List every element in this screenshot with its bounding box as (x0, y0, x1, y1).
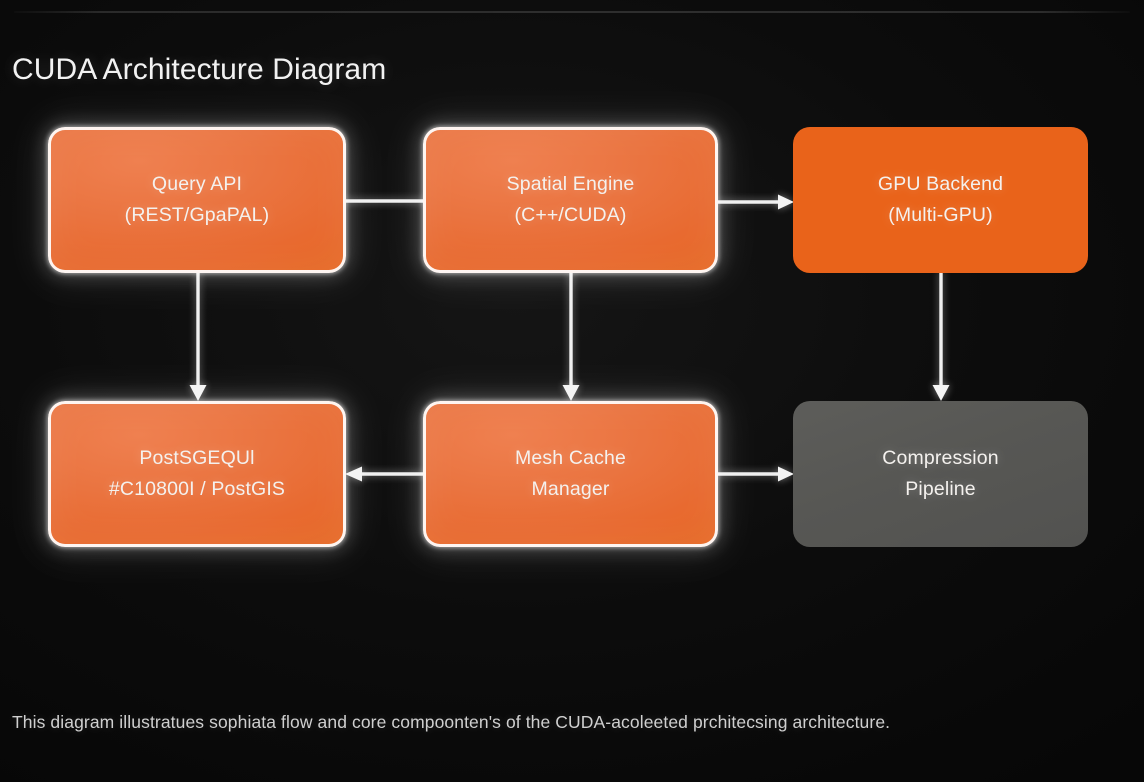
node-gpu-backend-line1: GPU Backend (878, 169, 1003, 200)
node-spatial-engine-line2: (C++/CUDA) (514, 200, 626, 231)
node-mesh-cache-manager-line2: Manager (531, 474, 609, 505)
connector-mesh-cache-to-postgis-store (342, 465, 426, 483)
top-divider (14, 11, 1130, 13)
node-postgis-store-line1: PostSGEQUl (139, 443, 254, 474)
page-title: CUDA Architecture Diagram (12, 48, 386, 92)
connector-gpu-backend-to-compression-pipeline (931, 271, 951, 403)
node-query-api[interactable]: Query API (REST/GpaPAL) (48, 127, 346, 273)
diagram-canvas: CUDA Architecture Diagram (0, 0, 1144, 782)
node-compression-pipeline[interactable]: Compression Pipeline (793, 401, 1088, 547)
node-gpu-backend-line2: (Multi-GPU) (888, 200, 993, 231)
node-mesh-cache-manager-line1: Mesh Cache (515, 443, 626, 474)
diagram-caption: This diagram illustratues sophiata flow … (12, 706, 1072, 738)
node-compression-pipeline-line1: Compression (882, 443, 999, 474)
node-spatial-engine-line1: Spatial Engine (507, 169, 635, 200)
connector-spatial-engine-to-gpu-backend (716, 193, 796, 211)
connector-query-api-to-spatial-engine (344, 193, 426, 209)
node-mesh-cache-manager[interactable]: Mesh Cache Manager (423, 401, 718, 547)
node-spatial-engine[interactable]: Spatial Engine (C++/CUDA) (423, 127, 718, 273)
node-gpu-backend[interactable]: GPU Backend (Multi-GPU) (793, 127, 1088, 273)
node-query-api-line1: Query API (152, 169, 242, 200)
node-query-api-line2: (REST/GpaPAL) (125, 200, 270, 231)
connector-query-api-to-postgis-store (188, 271, 208, 403)
node-compression-pipeline-line2: Pipeline (905, 474, 976, 505)
node-postgis-store[interactable]: PostSGEQUl #C10800I / PostGIS (48, 401, 346, 547)
connector-mesh-cache-to-compression-pipeline (716, 465, 796, 483)
node-postgis-store-line2: #C10800I / PostGIS (109, 474, 285, 505)
connector-spatial-engine-to-mesh-cache (561, 271, 581, 403)
